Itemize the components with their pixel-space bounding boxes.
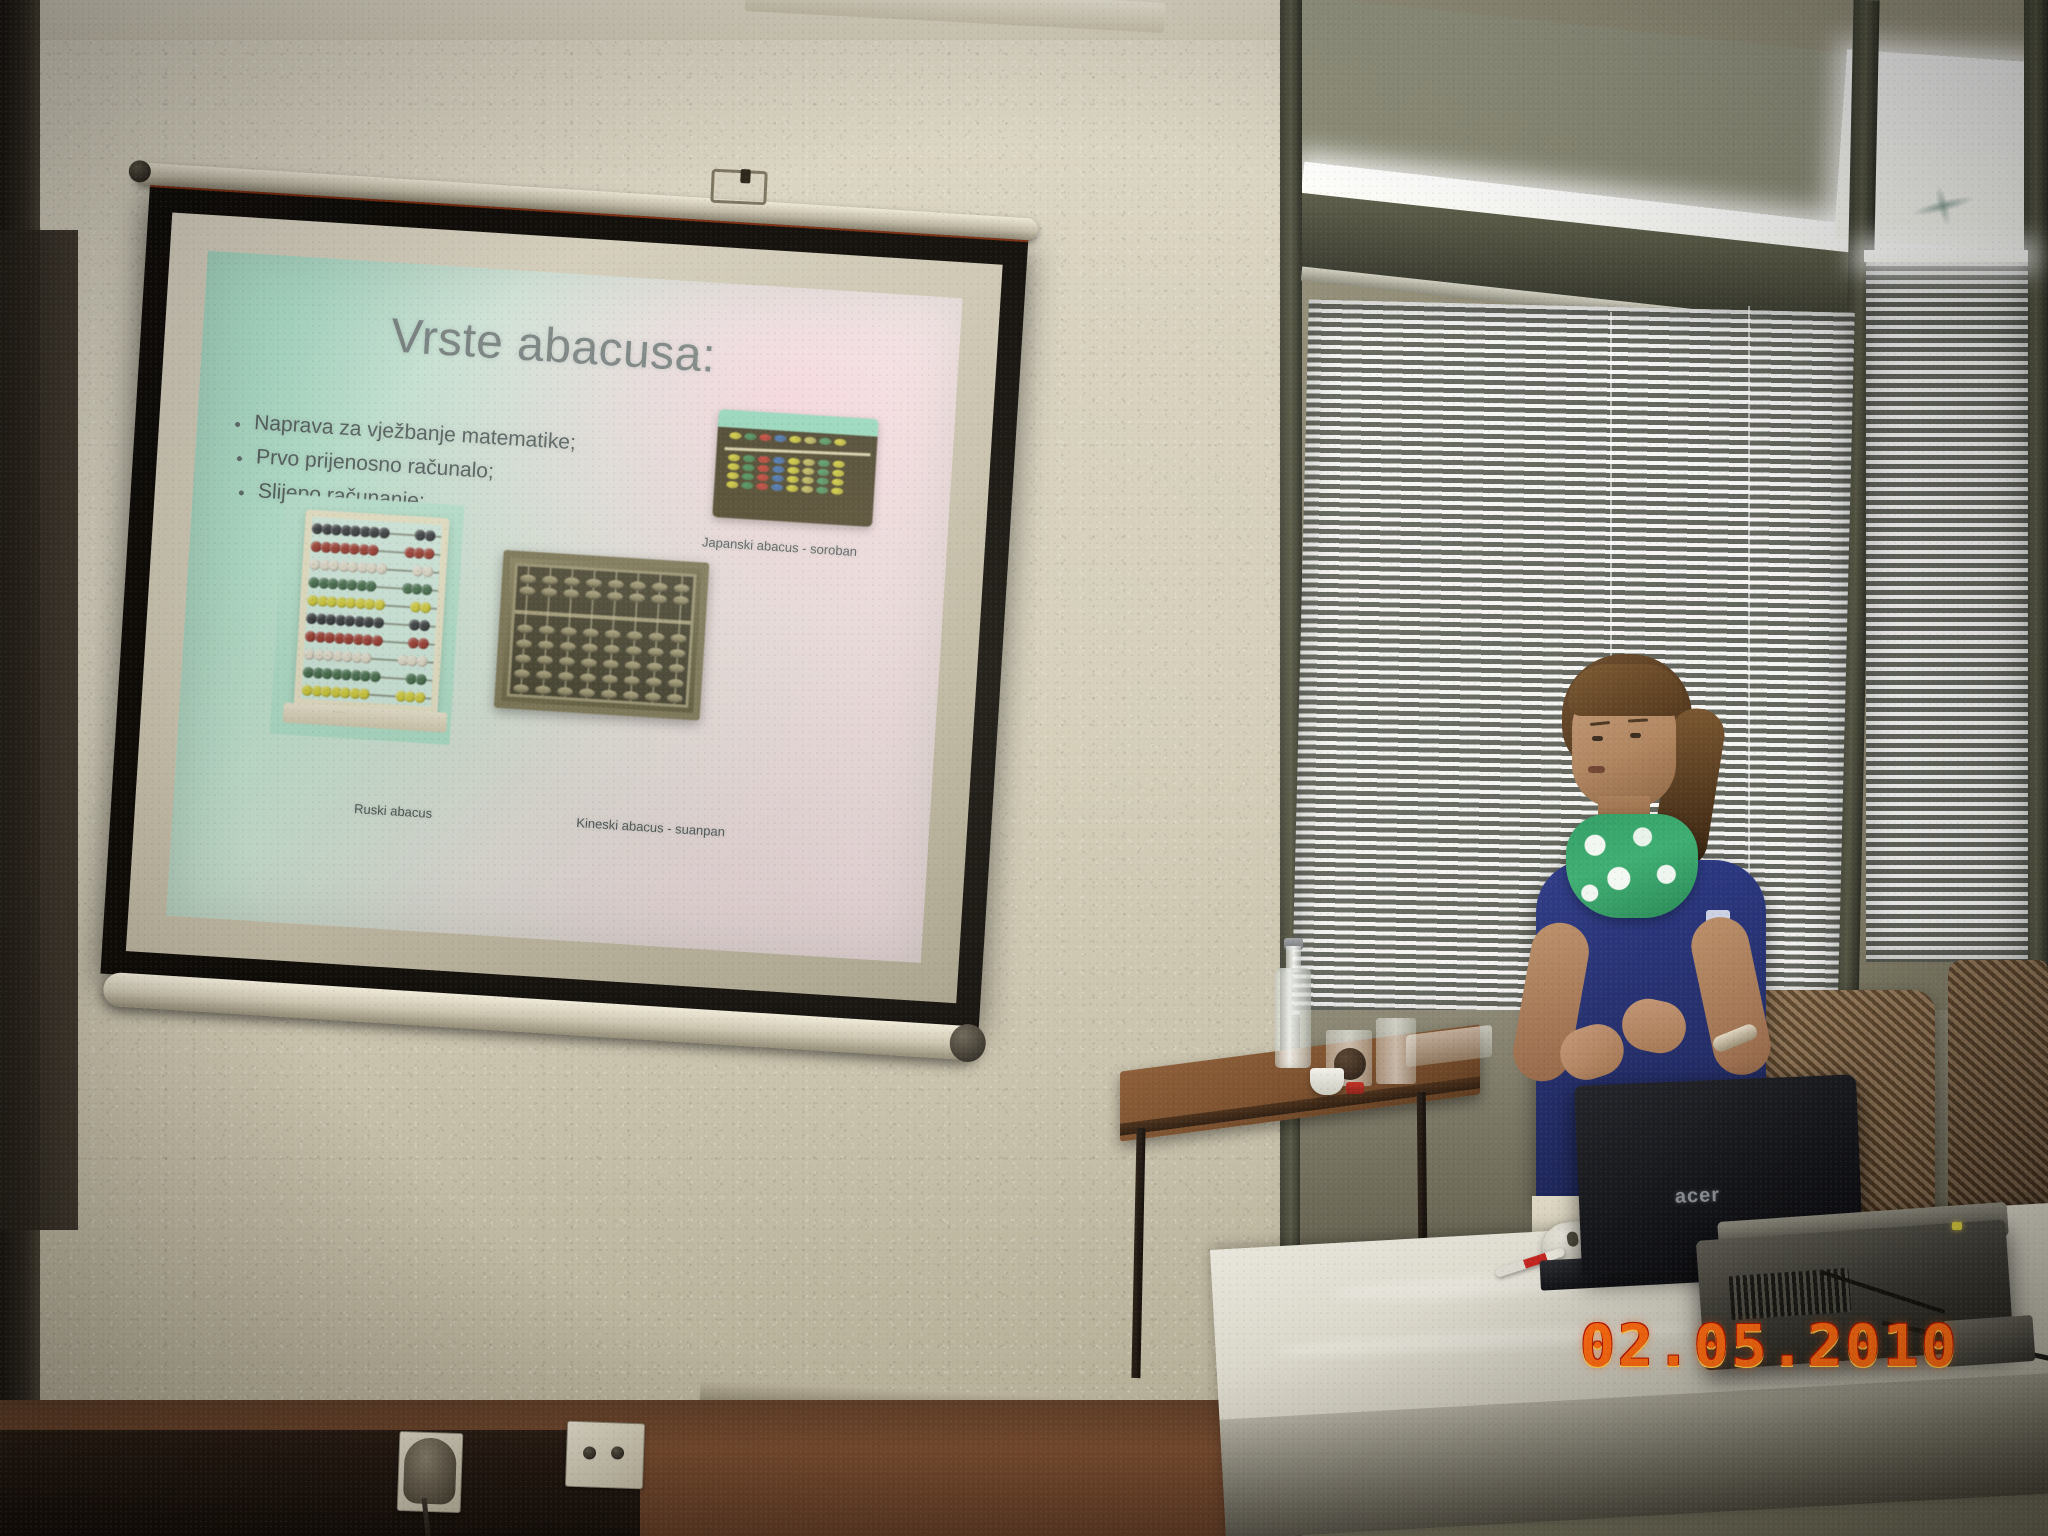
soroban-column bbox=[729, 432, 741, 440]
abacus-bead bbox=[373, 599, 385, 611]
abacus-bead-group bbox=[395, 690, 424, 703]
soroban-column bbox=[834, 438, 846, 446]
suanpan-bead bbox=[651, 594, 668, 604]
eyebrow-right bbox=[1628, 718, 1648, 722]
abacus-bead-group bbox=[306, 613, 383, 629]
suanpan-bead bbox=[563, 589, 580, 599]
soroban-bead bbox=[742, 473, 754, 481]
projector-status-led bbox=[1952, 1222, 1962, 1230]
soroban-bead bbox=[741, 482, 753, 490]
soroban-column bbox=[771, 457, 785, 492]
side-table-leg-left bbox=[1131, 1128, 1145, 1378]
abacus-bead bbox=[378, 527, 390, 539]
abacus-rows bbox=[312, 517, 442, 525]
abacus-row bbox=[310, 541, 440, 560]
soroban-bead bbox=[802, 468, 814, 476]
abacus-bead bbox=[419, 602, 431, 614]
abacus-bead-group bbox=[405, 673, 425, 685]
abacus-bead bbox=[372, 617, 384, 629]
suanpan-bead bbox=[601, 689, 618, 699]
bullet-dot-icon bbox=[235, 422, 240, 427]
soroban-bead bbox=[744, 433, 756, 441]
suanpan-bead bbox=[539, 625, 556, 635]
soroban-upper-deck bbox=[729, 432, 846, 446]
soroban-bead bbox=[802, 477, 814, 485]
soroban-bead bbox=[819, 438, 831, 446]
suanpan-bead bbox=[515, 654, 532, 664]
bullet-dot-icon bbox=[239, 491, 244, 496]
abacus-bead bbox=[421, 566, 433, 578]
suanpan-bead bbox=[630, 581, 647, 591]
soroban-bead bbox=[816, 486, 828, 494]
abacus-row bbox=[305, 631, 435, 650]
mouth bbox=[1588, 766, 1605, 773]
chinese-suanpan-caption: Kineski abacus - suanpan bbox=[520, 812, 781, 845]
soroban-bead bbox=[756, 483, 768, 491]
abacus-bead-group bbox=[410, 601, 430, 613]
abacus-bead-group bbox=[409, 619, 429, 631]
hair-front bbox=[1568, 664, 1684, 716]
soroban-bead bbox=[833, 460, 845, 468]
soroban-bead bbox=[787, 476, 799, 484]
suanpan-bead bbox=[520, 574, 537, 584]
soroban-bead bbox=[817, 477, 829, 485]
soroban-column bbox=[804, 437, 816, 445]
abacus-bead-group bbox=[404, 547, 433, 560]
soroban-column bbox=[759, 434, 771, 442]
soroban-column bbox=[786, 458, 800, 493]
soroban-bead bbox=[817, 468, 829, 476]
japanese-soroban-image bbox=[712, 409, 878, 527]
soroban-bead bbox=[831, 487, 843, 495]
suanpan-bead bbox=[646, 677, 663, 687]
suanpan-bead bbox=[629, 593, 646, 603]
abacus-frame bbox=[294, 509, 450, 714]
suanpan-bead bbox=[603, 659, 620, 669]
abacus-bead bbox=[416, 656, 428, 668]
soroban-bead bbox=[757, 465, 769, 473]
soroban-column bbox=[789, 436, 801, 444]
soroban-bead bbox=[727, 463, 739, 471]
abacus-bead-group bbox=[305, 631, 382, 647]
soroban-bead bbox=[803, 459, 815, 467]
suanpan-bead bbox=[519, 586, 536, 596]
chinese-suanpan-image bbox=[494, 550, 710, 721]
soroban-caption: Japanski abacus - soroban bbox=[684, 533, 875, 561]
soroban-bead bbox=[786, 485, 798, 493]
suanpan-bead bbox=[514, 669, 531, 679]
suanpan-bead bbox=[667, 693, 684, 703]
abacus-bead-group bbox=[307, 595, 384, 611]
suanpan-bead bbox=[646, 662, 663, 672]
abacus-base-text: ····· bbox=[333, 710, 346, 717]
screen-wall-bracket bbox=[710, 169, 767, 206]
soroban-bead bbox=[728, 454, 740, 462]
suanpan-bead bbox=[538, 640, 555, 650]
venetian-blinds-right[interactable] bbox=[1866, 262, 2028, 962]
soroban-bead bbox=[801, 485, 813, 493]
russian-abacus-caption: Ruski abacus bbox=[283, 797, 504, 827]
outlet-hole-left bbox=[583, 1446, 596, 1459]
suanpan-bead bbox=[645, 692, 662, 702]
suanpan-bead bbox=[560, 642, 577, 652]
abacus-bead bbox=[371, 635, 383, 647]
projected-slide: Vrste abacusa: Naprava za vježbanje mate… bbox=[166, 251, 962, 963]
abacus-bead-group bbox=[301, 685, 368, 700]
suanpan-bead bbox=[513, 684, 530, 694]
abacus-row bbox=[306, 613, 436, 632]
suanpan-bead bbox=[623, 691, 640, 701]
soroban-column bbox=[726, 454, 740, 489]
abacus-row bbox=[307, 595, 437, 614]
abacus-bead-group bbox=[302, 667, 379, 683]
abacus-bead-group bbox=[414, 529, 434, 541]
abacus-bead-group bbox=[304, 649, 371, 664]
slide-title: Vrste abacusa: bbox=[389, 308, 717, 383]
suanpan-bead bbox=[608, 580, 625, 590]
soroban-bead bbox=[759, 434, 771, 442]
soroban-bead bbox=[834, 438, 846, 446]
suanpan-bead bbox=[537, 655, 554, 665]
pull-down-projection-screen[interactable]: Vrste abacusa: Naprava za vježbanje mate… bbox=[98, 185, 1033, 1069]
suanpan-bead bbox=[603, 644, 620, 654]
soroban-bead bbox=[772, 475, 784, 483]
eye-left bbox=[1592, 736, 1603, 741]
abacus-bead-group bbox=[308, 577, 375, 592]
abacus-bead bbox=[415, 674, 427, 686]
suanpan-bead bbox=[564, 577, 581, 587]
abacus-bead bbox=[369, 671, 381, 683]
abacus-bead-group bbox=[407, 637, 427, 649]
soroban-bead bbox=[818, 459, 830, 467]
soroban-lower-deck bbox=[726, 454, 845, 495]
abacus-bead bbox=[414, 692, 426, 704]
soroban-bead bbox=[787, 467, 799, 475]
suanpan-bead bbox=[561, 627, 578, 637]
suanpan-bead bbox=[624, 676, 641, 686]
abacus-row bbox=[302, 667, 432, 686]
camera-date-stamp: 02.05.2010 bbox=[1580, 1312, 1959, 1380]
abacus-bead bbox=[360, 652, 372, 664]
floor-shadow bbox=[0, 1430, 640, 1536]
soroban-column bbox=[801, 459, 815, 494]
suanpan-bead bbox=[542, 575, 559, 585]
abacus-bead bbox=[365, 580, 377, 592]
abacus-bead-group bbox=[311, 523, 388, 539]
soroban-bead bbox=[831, 478, 843, 486]
suanpan-bead bbox=[670, 634, 687, 644]
russian-abacus-image: ····· bbox=[270, 494, 465, 745]
soroban-column bbox=[741, 455, 755, 490]
suanpan-bead bbox=[557, 687, 574, 697]
suanpan-bead bbox=[516, 639, 533, 649]
suanpan-bead bbox=[579, 688, 596, 698]
suanpan-bead bbox=[517, 624, 534, 634]
soroban-bead bbox=[774, 435, 786, 443]
suanpan-bead bbox=[626, 631, 643, 641]
suanpan-bead bbox=[585, 590, 602, 600]
abacus-row bbox=[301, 685, 431, 704]
suanpan-crossbar bbox=[515, 610, 691, 625]
suanpan-bead bbox=[625, 646, 642, 656]
wall-outlet-empty[interactable] bbox=[565, 1421, 645, 1490]
abacus-row bbox=[309, 559, 439, 578]
suanpan-bead bbox=[648, 632, 665, 642]
bullet-dot-icon bbox=[237, 456, 242, 461]
soroban-bead bbox=[729, 432, 741, 440]
suanpan-bead bbox=[607, 592, 624, 602]
soroban-bead bbox=[758, 456, 770, 464]
soroban-bead bbox=[726, 481, 738, 489]
abacus-bead bbox=[423, 548, 435, 560]
soroban-bead bbox=[789, 436, 801, 444]
abacus-bead bbox=[424, 530, 436, 542]
suanpan-bead bbox=[541, 587, 558, 597]
suanpan-inner-frame bbox=[507, 563, 697, 708]
abacus-row bbox=[304, 649, 434, 668]
soroban-column bbox=[756, 456, 770, 491]
outlet-hole-right bbox=[611, 1446, 624, 1459]
abacus-row bbox=[311, 523, 441, 542]
water-bottle bbox=[1275, 968, 1311, 1068]
soroban-column bbox=[744, 433, 756, 441]
soroban-bead bbox=[773, 457, 785, 465]
power-plug bbox=[403, 1437, 457, 1505]
soroban-bead bbox=[832, 469, 844, 477]
abacus-bead bbox=[420, 584, 432, 596]
suanpan-bead bbox=[602, 674, 619, 684]
suanpan-bead bbox=[669, 649, 686, 659]
acer-logo: acer bbox=[1674, 1184, 1720, 1209]
eyebrow-left bbox=[1590, 721, 1610, 726]
red-marker bbox=[1346, 1082, 1364, 1094]
soroban-bead bbox=[788, 458, 800, 466]
suanpan-bead bbox=[604, 629, 621, 639]
suanpan-bead bbox=[558, 672, 575, 682]
sky-sliver-right bbox=[1864, 250, 2028, 262]
abacus-bead-group bbox=[401, 583, 430, 596]
suanpan-columns bbox=[518, 566, 694, 577]
abacus-bead bbox=[358, 688, 370, 700]
suanpan-bead bbox=[673, 584, 690, 594]
suanpan-bead bbox=[647, 647, 664, 657]
left-dark-panel bbox=[0, 230, 78, 1230]
abacus-bead bbox=[417, 638, 429, 650]
soroban-bead bbox=[771, 484, 783, 492]
soroban-bead bbox=[804, 437, 816, 445]
abacus-row bbox=[308, 577, 438, 596]
abacus-bead-group bbox=[309, 559, 386, 575]
classroom-photo: Vrste abacusa: Naprava za vježbanje mate… bbox=[0, 0, 2048, 1536]
white-cup bbox=[1310, 1068, 1344, 1095]
abacus-bead bbox=[367, 544, 379, 556]
suanpan-bead bbox=[535, 685, 552, 695]
abacus-bead-group bbox=[397, 654, 426, 667]
soroban-column bbox=[819, 438, 831, 446]
suanpan-bead bbox=[580, 673, 597, 683]
suanpan-bead bbox=[667, 679, 684, 689]
soroban-column bbox=[831, 460, 845, 495]
eye-right bbox=[1630, 733, 1641, 738]
soroban-column bbox=[774, 435, 786, 443]
suanpan-bead bbox=[582, 643, 599, 653]
abacus-bead-group bbox=[412, 565, 432, 577]
soroban-column bbox=[816, 459, 830, 494]
soroban-bead bbox=[772, 466, 784, 474]
suanpan-bead bbox=[582, 628, 599, 638]
soroban-bead bbox=[743, 455, 755, 463]
suanpan-bead bbox=[624, 661, 641, 671]
abacus-bead bbox=[418, 620, 430, 632]
abacus-bead bbox=[376, 563, 388, 575]
abacus-bead-group bbox=[310, 541, 377, 556]
soroban-bead bbox=[742, 464, 754, 472]
suanpan-bead bbox=[668, 664, 685, 674]
bullet-text: Prvo prijenosno računalo; bbox=[255, 444, 494, 484]
suanpan-bead bbox=[559, 657, 576, 667]
soroban-bead bbox=[757, 474, 769, 482]
suanpan-bead bbox=[651, 582, 668, 592]
suanpan-bead bbox=[586, 578, 603, 588]
suanpan-bead bbox=[673, 596, 690, 606]
suanpan-bead bbox=[536, 670, 553, 680]
suanpan-bead bbox=[581, 658, 598, 668]
patterned-scarf bbox=[1566, 814, 1698, 918]
soroban-bead bbox=[727, 472, 739, 480]
